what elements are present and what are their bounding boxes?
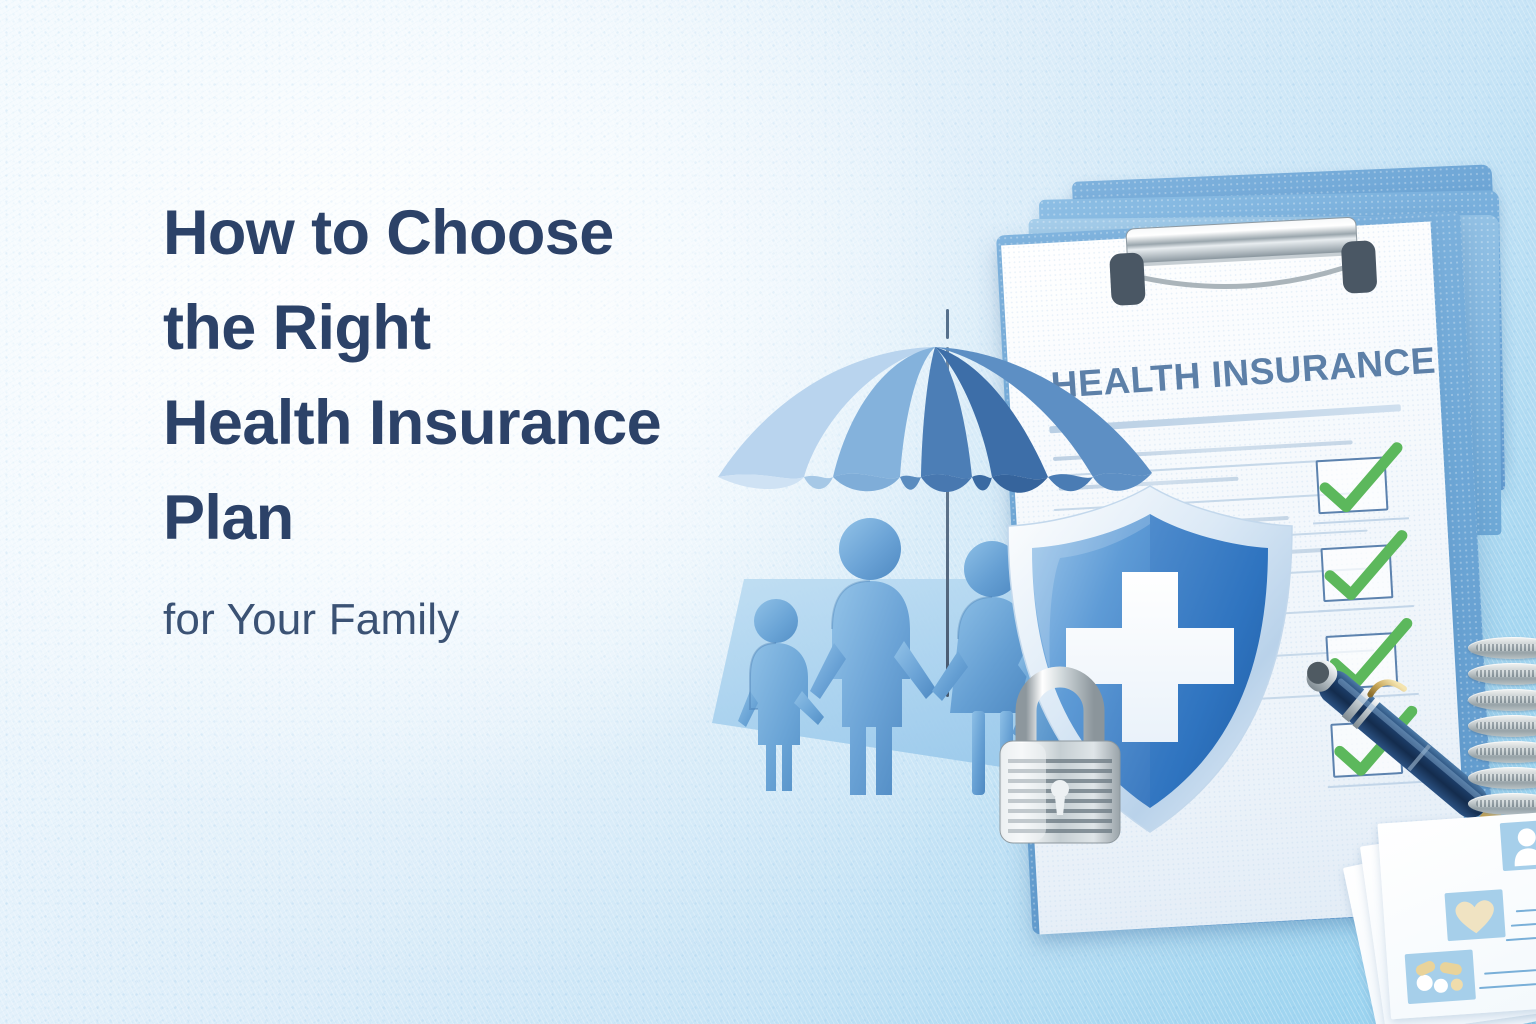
headline-line-2: the Right: [163, 281, 763, 376]
page-subtitle: for Your Family: [163, 594, 763, 646]
family-figure-father: [808, 513, 938, 799]
headline-line-1: How to Choose: [163, 186, 763, 281]
hero-banner: How to Choose the Right Health Insurance…: [0, 0, 1536, 1024]
clipboard-clip-icon: [1104, 207, 1384, 327]
checklist-item[interactable]: [1316, 456, 1389, 514]
person-icon: [1500, 820, 1536, 872]
checklist-item[interactable]: [1320, 544, 1393, 602]
headline-line-4: Plan: [163, 471, 763, 566]
headline-line-3: Health Insurance: [163, 376, 763, 471]
page-title: How to Choose the Right Health Insurance…: [163, 186, 763, 566]
hero-illustration: HEALTH INSURANCE: [690, 155, 1536, 1024]
check-icon: [1318, 531, 1418, 614]
headline-block: How to Choose the Right Health Insurance…: [163, 186, 763, 646]
pills-icon: [1405, 949, 1476, 1004]
lock-icon: [990, 655, 1130, 850]
documents-icon: [1350, 785, 1536, 1024]
heart-icon: [1444, 889, 1505, 941]
check-icon: [1313, 443, 1413, 526]
